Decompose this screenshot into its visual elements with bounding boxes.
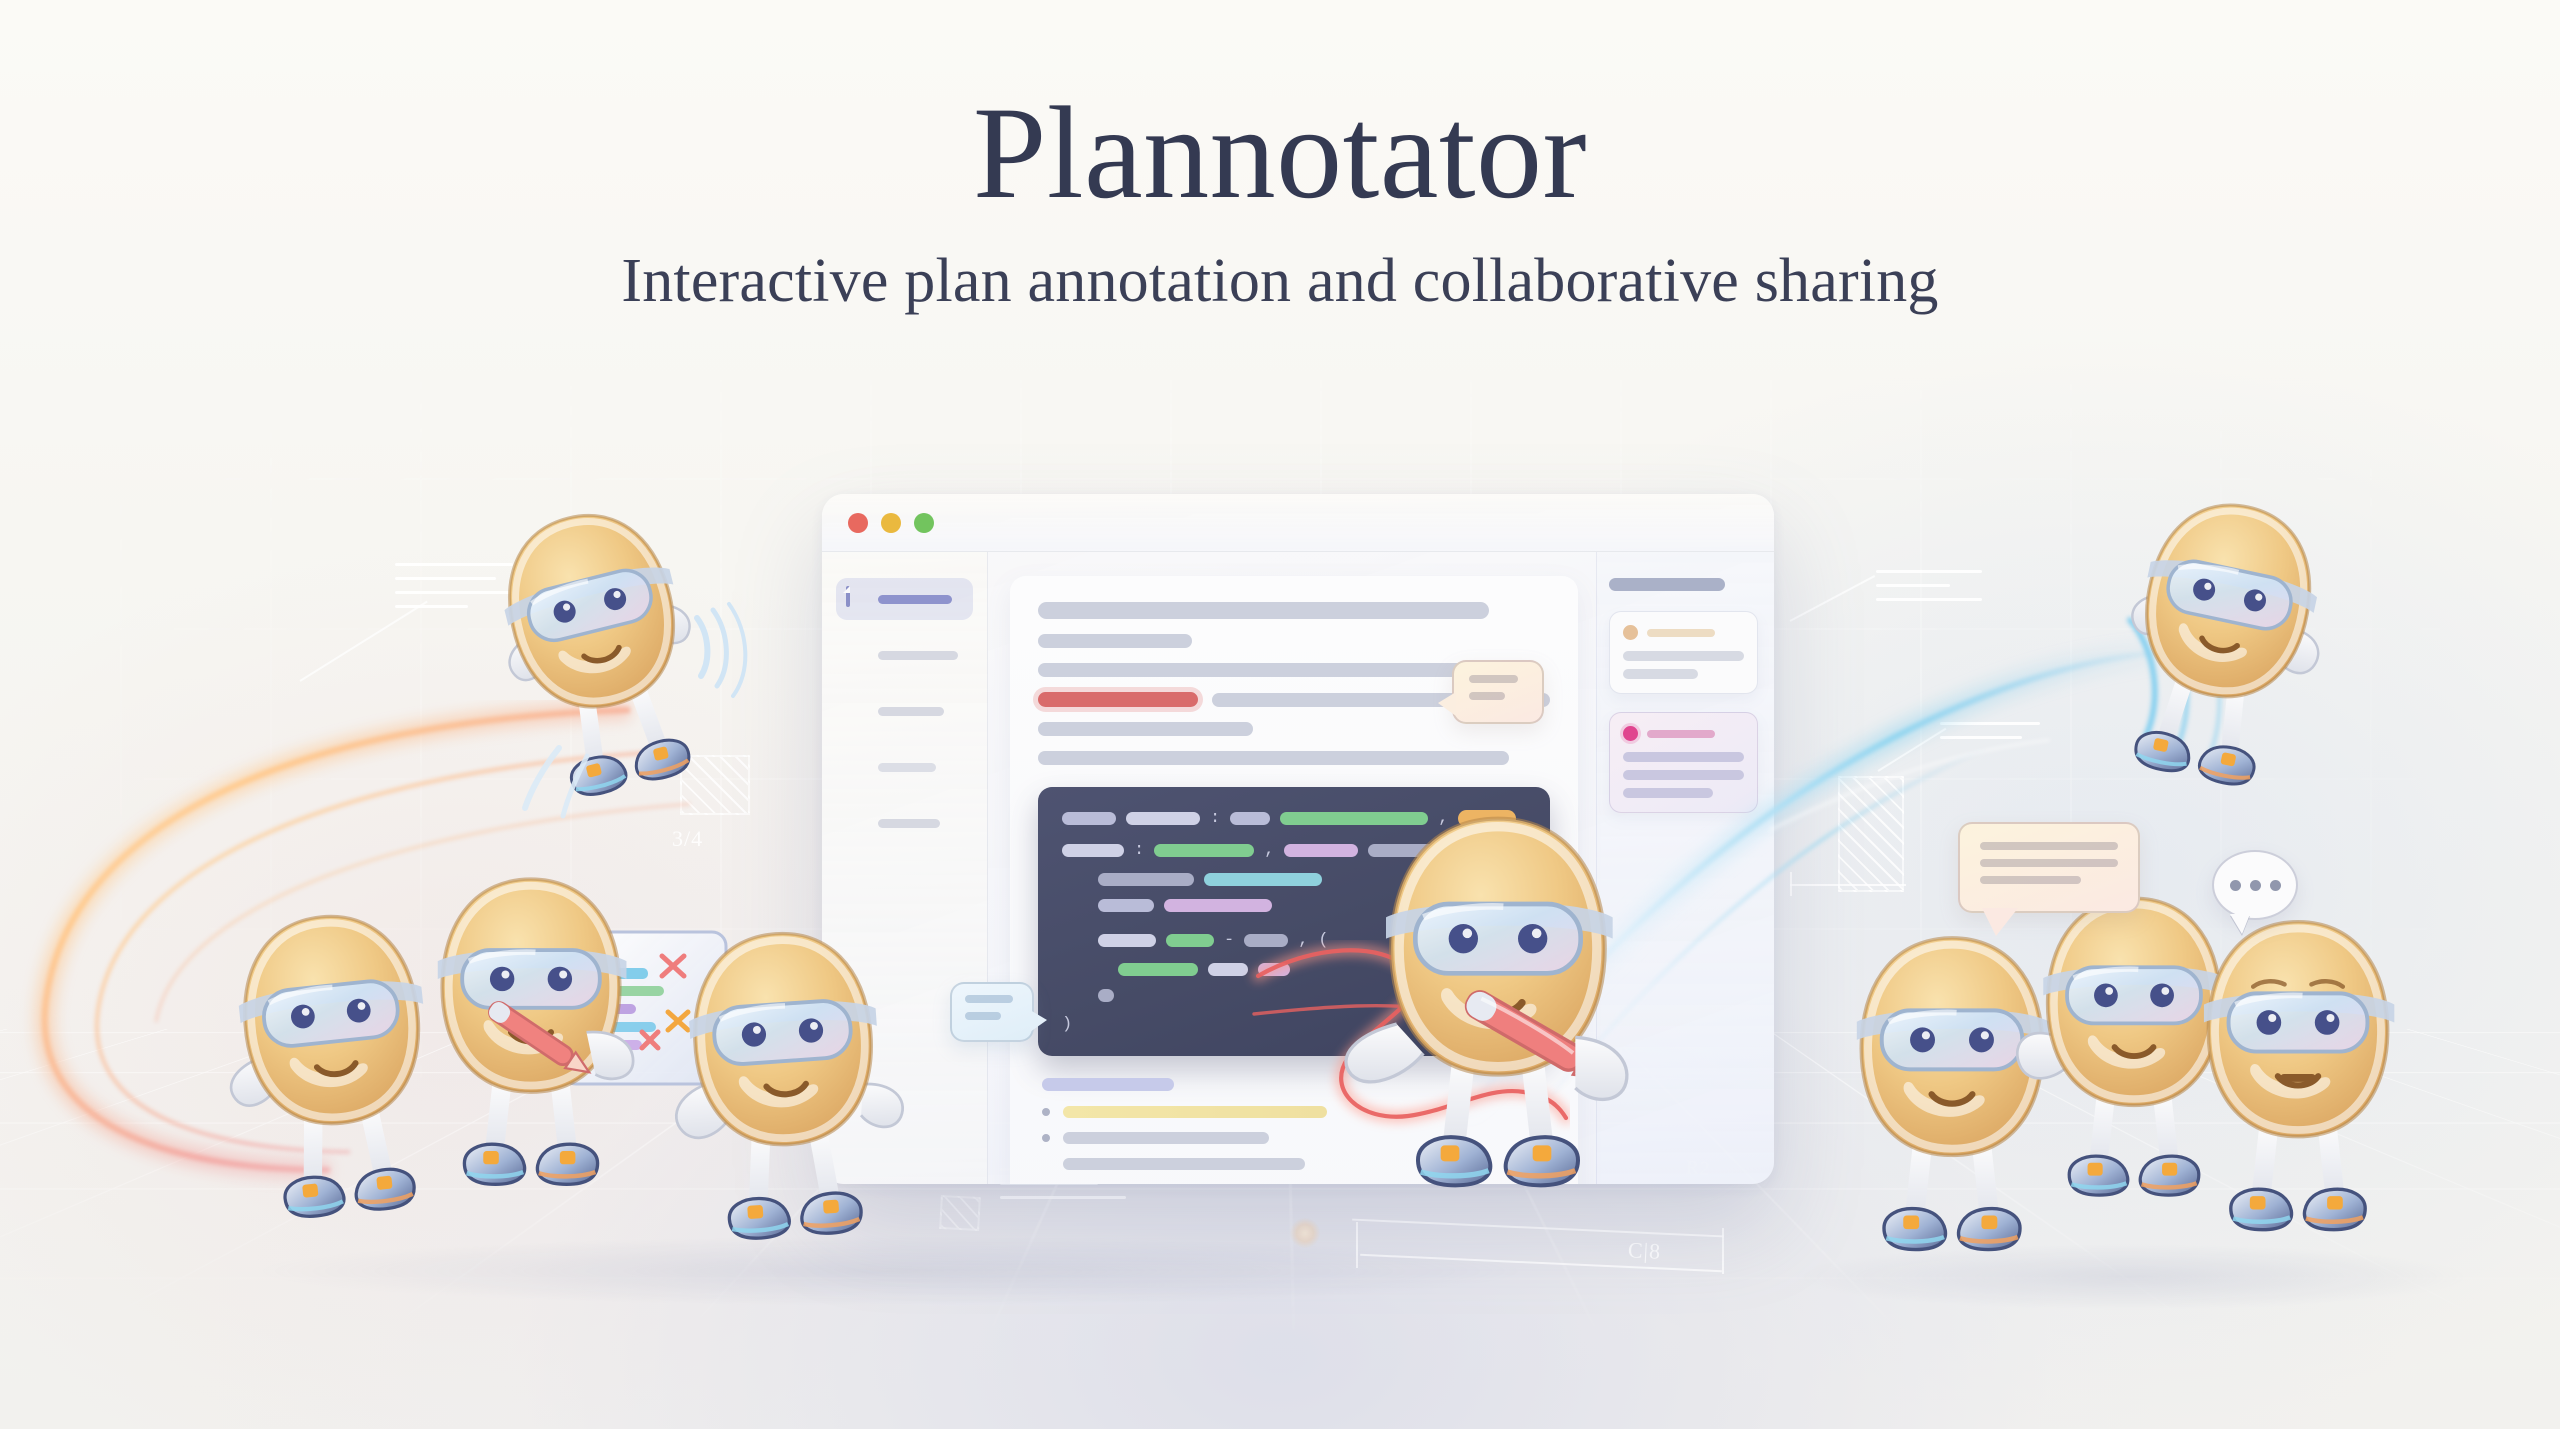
- blueprint-tick-right: [1790, 872, 1792, 896]
- comments-panel-title: [1609, 578, 1725, 591]
- blueprint-floor-tick-b: [1722, 1228, 1724, 1274]
- blueprint-hatch-floor: [939, 1195, 981, 1231]
- comment-text: [1623, 770, 1744, 780]
- comment-card[interactable]: [1609, 611, 1758, 694]
- avatar: [1623, 726, 1638, 741]
- bubble-tail: [1982, 908, 2018, 936]
- checklist-heading: [1042, 1078, 1174, 1091]
- pencil-icon: [846, 644, 866, 666]
- sidebar-item-highlight[interactable]: [836, 690, 973, 732]
- page-subtitle: Interactive plan annotation and collabor…: [0, 247, 2560, 315]
- comment-text: [1623, 752, 1744, 762]
- sidebar-item-label: [878, 651, 958, 660]
- blueprint-label-left: 3/4: [672, 826, 703, 852]
- sidebar-item-annotate[interactable]: [836, 634, 973, 676]
- blueprint-leader-left: [299, 601, 427, 682]
- annotation-highlight[interactable]: [1038, 692, 1198, 707]
- doc-line: [1038, 751, 1509, 765]
- annotation-callout[interactable]: [1452, 660, 1544, 724]
- hero-banner: 3/4 C|8 R2: [0, 0, 2560, 1429]
- comment-card[interactable]: [1609, 712, 1758, 813]
- blueprint-note-right-top: [1876, 570, 1982, 612]
- window-titlebar: [822, 494, 1774, 552]
- typing-dot: [2230, 880, 2241, 891]
- mascot-annotator: [1364, 800, 1632, 1200]
- comment-text: [1623, 651, 1744, 661]
- comment-author: [1623, 726, 1744, 741]
- sidebar-item-layers[interactable]: [836, 746, 973, 788]
- sparkle-center-floor: [1290, 1218, 1320, 1248]
- comment-author: [1623, 625, 1744, 640]
- bubble-tail: [1438, 692, 1456, 716]
- mascot-tablet-carrier: [420, 862, 642, 1198]
- blueprint-label-floor: C|8: [1627, 1237, 1661, 1265]
- close-button[interactable]: [848, 513, 868, 533]
- item-text: [1063, 1158, 1305, 1170]
- side-annotation-callout[interactable]: [950, 982, 1034, 1042]
- page-title: Plannotator: [0, 86, 2560, 221]
- comment-text: [1623, 788, 1713, 798]
- mascot-group-right: [2186, 906, 2410, 1242]
- blueprint-leader-right-mid: [1877, 728, 1946, 772]
- minimize-button[interactable]: [881, 513, 901, 533]
- document-icon: [846, 588, 866, 610]
- sidebar-item-label: [878, 707, 944, 716]
- mascot-flyer-right: [2106, 490, 2334, 790]
- sidebar-item-label: [878, 819, 940, 828]
- sidebar-item-document[interactable]: [836, 578, 973, 620]
- blueprint-floor-dim-a: [1352, 1219, 1724, 1238]
- blueprint-leader-right-top: [1790, 575, 1876, 622]
- author-name: [1647, 730, 1715, 738]
- doc-heading-line: [1038, 602, 1489, 619]
- typing-dot: [2250, 880, 2261, 891]
- item-text: [1063, 1132, 1269, 1144]
- avatar: [1623, 625, 1638, 640]
- maximize-button[interactable]: [914, 513, 934, 533]
- bubble-tail: [1030, 1010, 1047, 1032]
- bullet-icon: [1042, 1134, 1050, 1142]
- blueprint-note-right-mid: [1940, 722, 2040, 750]
- sidebar-item-label: [878, 595, 952, 604]
- doc-line: [1038, 634, 1192, 648]
- mascot-runner-far-left: [228, 898, 444, 1228]
- square-icon: [846, 812, 866, 834]
- highlighted-item: [1063, 1106, 1327, 1118]
- typing-indicator: [2212, 850, 2298, 920]
- bullet-icon: [1042, 1108, 1050, 1116]
- doc-line: [1038, 722, 1253, 736]
- droplet-icon: [846, 700, 866, 722]
- mascot-runner-center-left: [676, 918, 896, 1248]
- typing-dot: [2270, 880, 2281, 891]
- square-icon: [846, 756, 866, 778]
- mascot-flyer-left: [486, 500, 716, 800]
- comment-text: [1623, 669, 1698, 679]
- hero-title-block: Plannotator Interactive plan annotation …: [0, 86, 2560, 315]
- author-name: [1647, 629, 1715, 637]
- sidebar-item-label: [878, 763, 936, 772]
- sidebar-item-settings[interactable]: [836, 802, 973, 844]
- blueprint-hatch-right: [1838, 776, 1904, 892]
- blueprint-dim-right: [1790, 884, 1906, 886]
- chat-callout[interactable]: [1958, 822, 2140, 913]
